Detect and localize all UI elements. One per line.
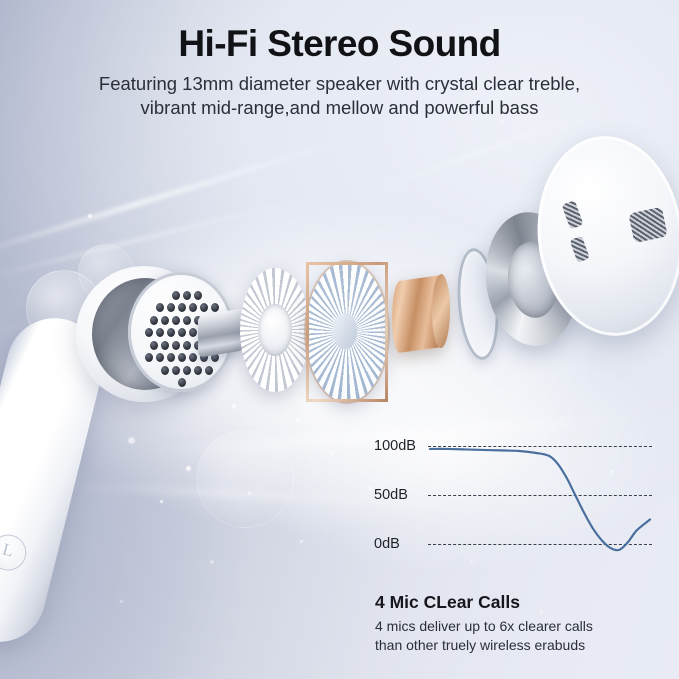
page-subtitle: Featuring 13mm diameter speaker with cry…	[0, 72, 679, 120]
diaphragm-ring	[240, 268, 310, 392]
grille-hole	[194, 291, 202, 300]
grille-hole	[194, 366, 202, 375]
grille-hole	[178, 378, 186, 387]
grille-hole	[178, 303, 186, 312]
sparkle-dot	[470, 560, 473, 563]
sparkle-dot	[330, 452, 333, 455]
frequency-response-curve	[374, 437, 654, 553]
grille-hole	[161, 316, 169, 325]
grille-hole	[178, 328, 186, 337]
grille-hole	[200, 303, 208, 312]
grille-hole	[172, 366, 180, 375]
grille-hole	[145, 328, 153, 337]
mic-desc-line-1: 4 mics deliver up to 6x clearer calls	[375, 617, 593, 636]
mic-mesh-icon	[628, 207, 667, 243]
grille-hole	[156, 303, 164, 312]
grille-hole	[145, 353, 153, 362]
sparkle-dot	[210, 560, 214, 564]
frequency-response-chart: 100dB 50dB 0dB	[374, 437, 654, 553]
connector-post	[198, 308, 244, 357]
grille-hole	[211, 303, 219, 312]
grille-hole	[183, 291, 191, 300]
grille-hole	[172, 341, 180, 350]
grille-hole	[161, 341, 169, 350]
sparkle-dot	[368, 486, 372, 490]
sparkle-dot	[232, 404, 236, 408]
sparkle-dot	[392, 420, 395, 423]
grille-hole	[172, 316, 180, 325]
grille-hole	[183, 366, 191, 375]
grille-hole	[156, 328, 164, 337]
sparkle-dot	[128, 437, 135, 444]
copper-voice-coil	[392, 274, 448, 354]
sparkle-dot	[248, 492, 251, 495]
grille-hole	[183, 341, 191, 350]
diaphragm-ring-hub	[258, 304, 292, 356]
bokeh-circle	[196, 430, 294, 528]
charging-contacts	[0, 589, 35, 634]
mic-mesh-icon	[570, 236, 590, 263]
grille-hole	[178, 353, 186, 362]
speaker-diaphragm	[306, 262, 388, 402]
grille-hole	[183, 316, 191, 325]
grille-hole	[161, 366, 169, 375]
grille-hole	[167, 303, 175, 312]
grille-hole	[167, 328, 175, 337]
sparkle-dot	[540, 610, 543, 613]
mic-desc-line-2: than other truely wireless erabuds	[375, 636, 593, 655]
subtitle-line-2: vibrant mid-range,and mellow and powerfu…	[0, 96, 679, 120]
sparkle-dot	[296, 418, 300, 422]
sparkle-dot	[120, 600, 123, 603]
side-marking-badge: L	[0, 531, 30, 575]
sparkle-dot	[300, 540, 303, 543]
grille-hole	[189, 328, 197, 337]
sparkle-dot	[160, 500, 163, 503]
sparkle-dot	[88, 214, 92, 218]
sparkle-dot	[500, 120, 503, 123]
mic-section-description: 4 mics deliver up to 6x clearer calls th…	[375, 617, 593, 655]
product-infographic: Hi-Fi Stereo Sound Featuring 13mm diamet…	[0, 0, 679, 679]
sparkle-dot	[430, 398, 433, 401]
grille-hole	[189, 353, 197, 362]
grille-hole	[150, 316, 158, 325]
subtitle-line-1: Featuring 13mm diameter speaker with cry…	[0, 72, 679, 96]
mic-section-title: 4 Mic CLear Calls	[375, 592, 520, 613]
grille-hole	[172, 291, 180, 300]
grille-hole	[167, 353, 175, 362]
grille-hole	[150, 341, 158, 350]
sparkle-dot	[186, 466, 191, 471]
speaker-diaphragm-hub	[333, 313, 357, 349]
grille-hole	[156, 353, 164, 362]
mic-mesh-icon	[562, 200, 584, 229]
side-marking-label: L	[0, 539, 15, 561]
grille-hole	[189, 303, 197, 312]
page-title: Hi-Fi Stereo Sound	[0, 23, 679, 65]
grille-hole	[205, 366, 213, 375]
